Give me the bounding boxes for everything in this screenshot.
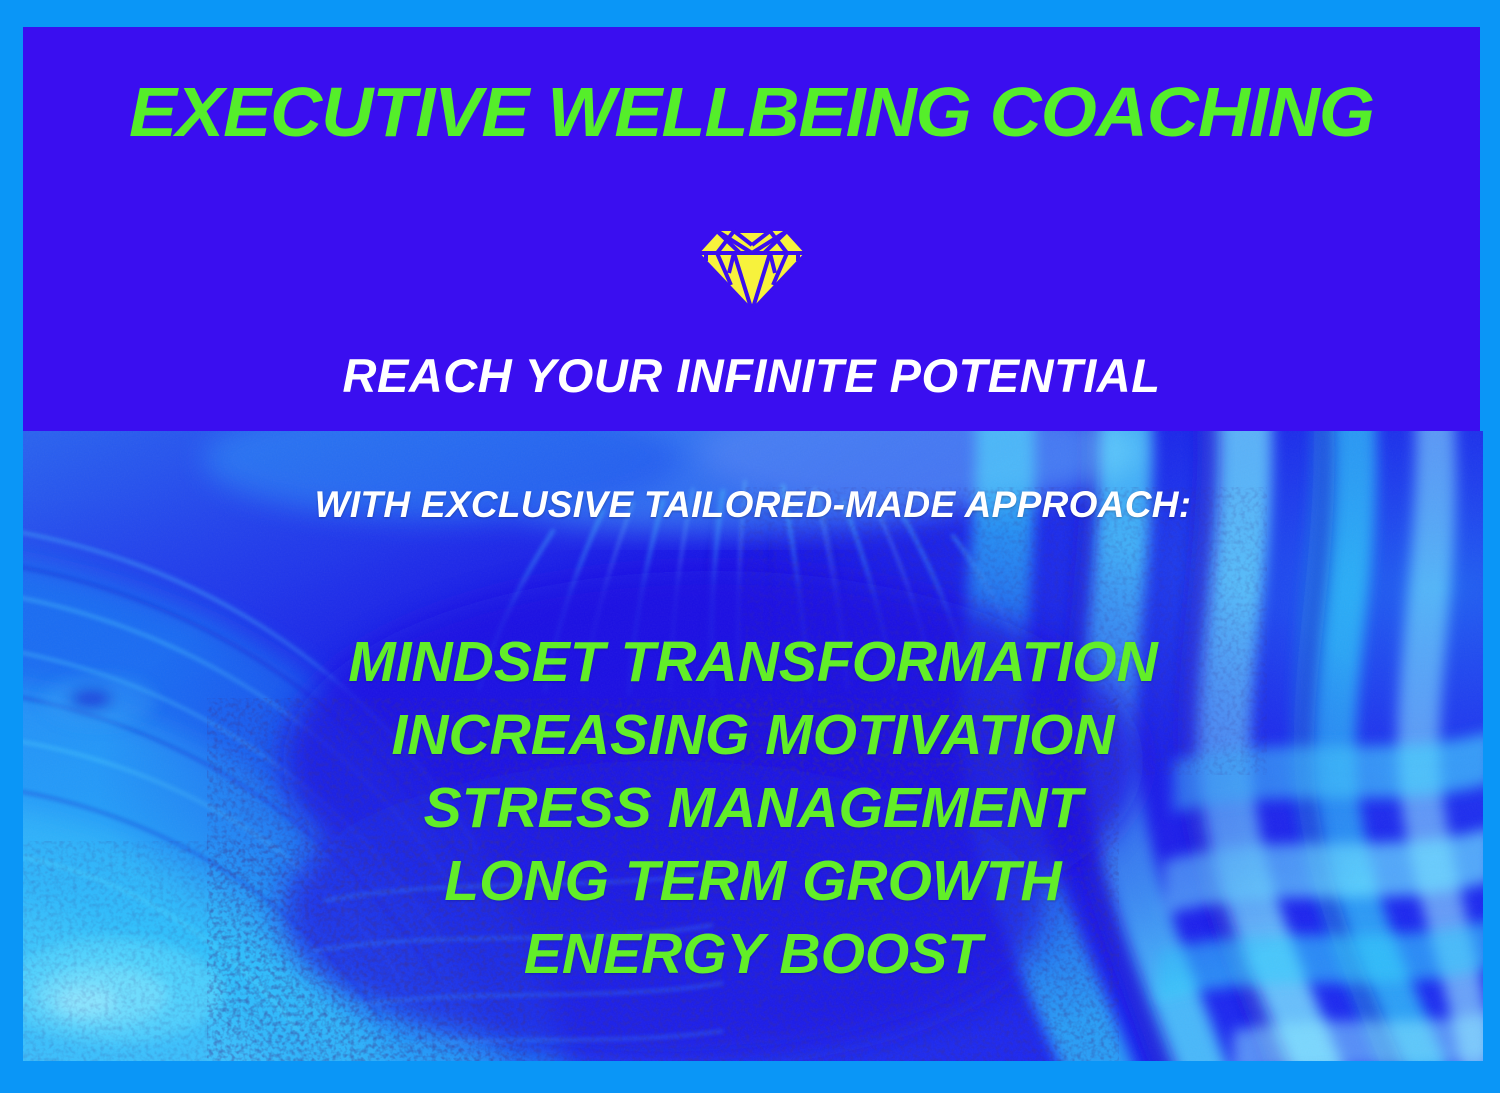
approach-line: WITH EXCLUSIVE TAILORED-MADE APPROACH:: [23, 486, 1483, 523]
list-item: ENERGY BOOST: [23, 918, 1483, 991]
gem-icon-container: [23, 223, 1480, 313]
poster-canvas: EXECUTIVE WELLBEING COACHING: [0, 0, 1500, 1093]
list-item: INCREASING MOTIVATION: [23, 699, 1483, 772]
page-subtitle: REACH YOUR INFINITE POTENTIAL: [23, 352, 1480, 399]
header-panel: EXECUTIVE WELLBEING COACHING: [23, 27, 1480, 431]
page-title: EXECUTIVE WELLBEING COACHING: [23, 77, 1480, 147]
list-item: STRESS MANAGEMENT: [23, 772, 1483, 845]
list-item: LONG TERM GROWTH: [23, 845, 1483, 918]
gem-diamond-icon: [693, 223, 811, 313]
benefit-list: MINDSET TRANSFORMATION INCREASING MOTIVA…: [23, 626, 1483, 991]
body-copy: WITH EXCLUSIVE TAILORED-MADE APPROACH: M…: [23, 431, 1483, 1061]
marbled-background-panel: WITH EXCLUSIVE TAILORED-MADE APPROACH: M…: [23, 431, 1483, 1061]
list-item: MINDSET TRANSFORMATION: [23, 626, 1483, 699]
